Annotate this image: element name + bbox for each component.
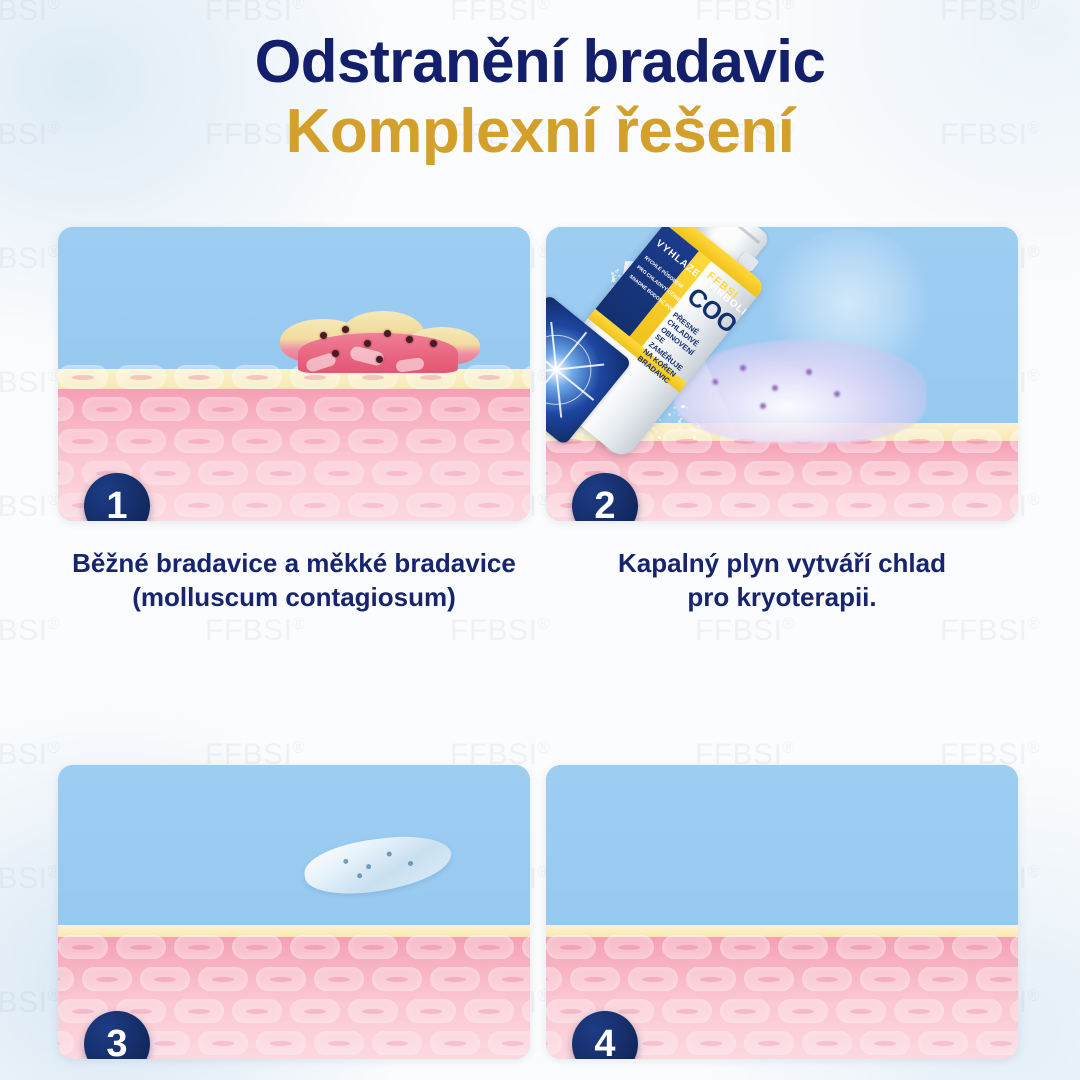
skin-cell <box>1010 429 1018 453</box>
skin-cell <box>1010 493 1018 517</box>
skin-cell <box>174 935 224 959</box>
skin-cell <box>918 967 968 991</box>
skin-cell <box>348 429 398 453</box>
skin-cell <box>952 493 1002 517</box>
skin-cell <box>406 999 456 1023</box>
skin-cell <box>686 1031 736 1055</box>
step-caption-1: Běžné bradavice a měkké bradavice (mollu… <box>58 547 530 615</box>
sky-background <box>58 765 530 931</box>
step-card-3: 3 Bradavice odpadne během 10–14 dnů a ob… <box>58 765 530 1080</box>
skin-cell <box>522 365 530 389</box>
step-1-illustration: 1 <box>58 227 530 521</box>
steps-row-2: 3 Bradavice odpadne během 10–14 dnů a ob… <box>0 765 1080 1080</box>
page-title-primary: Odstranění bradavic <box>0 30 1080 95</box>
skin-cell <box>918 461 968 485</box>
skin-cell <box>290 429 340 453</box>
skin-cell <box>744 461 794 485</box>
skin-cell <box>522 935 530 959</box>
steps-row-1: 1 Běžné bradavice a měkké bradavice (mol… <box>0 227 1080 643</box>
skin-cell <box>140 397 190 421</box>
skin-cell <box>802 967 852 991</box>
skin-cell <box>116 429 166 453</box>
skin-cell <box>116 365 166 389</box>
skin-cell <box>406 429 456 453</box>
skin-cell <box>430 967 480 991</box>
skin-cell <box>174 493 224 517</box>
skin-cell <box>464 493 514 517</box>
skin-cell <box>952 999 1002 1023</box>
skin-cell <box>720 999 770 1023</box>
skin-cell <box>744 967 794 991</box>
skin-cell <box>58 1031 74 1055</box>
skin-cell <box>430 461 480 485</box>
skin-cell <box>58 461 74 485</box>
skin-cell <box>546 461 562 485</box>
skin-cell <box>406 493 456 517</box>
skin-cell <box>860 967 910 991</box>
step-card-2: FFBSI COOLERASE VYHLAZENÍ HRBOLKŮ RYCHLÉ… <box>546 227 1018 615</box>
skin-cell <box>348 999 398 1023</box>
step-caption-2-line2: pro kryoterapii. <box>546 581 1018 615</box>
skin-cell <box>836 493 886 517</box>
skin-cell <box>488 397 530 421</box>
skin-cell <box>522 429 530 453</box>
skin-cell <box>256 461 306 485</box>
skin-cell-row <box>58 393 530 425</box>
step-card-1: 1 Běžné bradavice a měkké bradavice (mol… <box>58 227 530 615</box>
skin-cell <box>198 397 248 421</box>
skin-cell <box>174 365 224 389</box>
skin-cell <box>58 967 74 991</box>
page-title-secondary: Komplexní řešení <box>0 97 1080 166</box>
skin-cell <box>976 967 1018 991</box>
skin-cell <box>290 999 340 1023</box>
skin-cell <box>464 429 514 453</box>
skin-cell <box>256 397 306 421</box>
skin-cell <box>894 429 944 453</box>
watermark-text: FFBSI® <box>0 0 60 28</box>
skin-cell <box>802 461 852 485</box>
skin-cell <box>488 967 530 991</box>
skin-cell <box>314 1031 364 1055</box>
skin-cell <box>232 935 282 959</box>
watermark-text: FFBSI® <box>940 0 1040 28</box>
skin-cell <box>662 493 712 517</box>
skin-cell <box>604 935 654 959</box>
step-caption-2-line1: Kapalný plyn vytváří chlad <box>546 547 1018 581</box>
skin-cell <box>546 967 562 991</box>
skin-cell <box>290 935 340 959</box>
skin-cell <box>348 493 398 517</box>
skin-cell <box>372 1031 422 1055</box>
skin-cell <box>522 999 530 1023</box>
skin-cell <box>174 429 224 453</box>
step-caption-1-line1: Běžné bradavice a měkké bradavice <box>58 547 530 581</box>
step-caption-1-line2: (molluscum contagiosum) <box>58 581 530 615</box>
watermark-text: FFBSI® <box>695 0 795 28</box>
skin-cell <box>372 397 422 421</box>
skin-cell <box>464 935 514 959</box>
skin-cell <box>116 935 166 959</box>
skin-cell <box>58 429 108 453</box>
skin-cell <box>430 1031 480 1055</box>
skin-cell <box>372 461 422 485</box>
skin-cell <box>570 967 620 991</box>
skin-cell <box>430 397 480 421</box>
watermark-text: FFBSI® <box>205 0 305 28</box>
skin-cell <box>232 365 282 389</box>
skin-cell <box>720 493 770 517</box>
skin-cell <box>314 967 364 991</box>
skin-cell <box>1010 935 1018 959</box>
step-card-4: 4 Po následné aplikaci posílíte účinek. <box>546 765 1018 1080</box>
watermark-text: FFBSI® <box>450 0 550 28</box>
skin-cell <box>778 935 828 959</box>
skin-cell <box>58 935 108 959</box>
skin-cell <box>372 967 422 991</box>
skin-cell <box>256 967 306 991</box>
skin-cell <box>836 999 886 1023</box>
step-2-illustration: FFBSI COOLERASE VYHLAZENÍ HRBOLKŮ RYCHLÉ… <box>546 227 1018 521</box>
skin-cell-row <box>58 425 530 457</box>
step-3-illustration: 3 <box>58 765 530 1059</box>
skin-cell <box>952 429 1002 453</box>
skin-cell <box>82 397 132 421</box>
step-caption-2: Kapalný plyn vytváří chlad pro kryoterap… <box>546 547 1018 615</box>
skin-cell <box>836 935 886 959</box>
skin-cell <box>488 1031 530 1055</box>
skin-cell <box>198 967 248 991</box>
skin-cell <box>976 1031 1018 1055</box>
skin-cell <box>744 1031 794 1055</box>
skin-cell <box>58 365 108 389</box>
skin-cell <box>918 1031 968 1055</box>
skin-cell <box>662 999 712 1023</box>
skin-cell <box>232 999 282 1023</box>
skin-cell <box>976 461 1018 485</box>
skin-cell <box>314 397 364 421</box>
steps-grid: 1 Běžné bradavice a měkké bradavice (mol… <box>0 227 1080 1080</box>
skin-cell <box>406 935 456 959</box>
skin-cell <box>140 461 190 485</box>
skin-cell <box>232 429 282 453</box>
skin-cell <box>894 935 944 959</box>
skin-cell-row <box>58 931 530 963</box>
skin-cell <box>628 967 678 991</box>
skin-cell <box>522 493 530 517</box>
infographic-root: FFBSI®FFBSI®FFBSI®FFBSI®FFBSI®FFBSI®FFBS… <box>0 0 1080 1080</box>
skin-cell <box>894 493 944 517</box>
skin-cell <box>82 967 132 991</box>
skin-cell <box>778 999 828 1023</box>
step-4-illustration: 4 <box>546 765 1018 1059</box>
skin-cell <box>546 1031 562 1055</box>
skin-cell <box>140 967 190 991</box>
skin-cell <box>464 999 514 1023</box>
skin-cell <box>314 461 364 485</box>
skin-cell-row <box>546 931 1018 963</box>
skin-cell <box>952 935 1002 959</box>
skin-cell <box>198 1031 248 1055</box>
skin-cell <box>894 999 944 1023</box>
skin-cell <box>802 1031 852 1055</box>
skin-cell <box>546 935 596 959</box>
skin-cell <box>232 493 282 517</box>
skin-cell <box>778 493 828 517</box>
skin-cell <box>348 935 398 959</box>
title-block: Odstranění bradavic Komplexní řešení <box>0 30 1080 166</box>
skin-cell <box>256 1031 306 1055</box>
skin-cell <box>1010 999 1018 1023</box>
skin-cell-row <box>546 963 1018 995</box>
skin-cell <box>174 999 224 1023</box>
skin-cell <box>58 397 74 421</box>
skin-cell <box>488 461 530 485</box>
skin-cell-row <box>58 963 530 995</box>
sky-background <box>546 765 1018 931</box>
wart-lesion <box>280 311 480 373</box>
skin-cell <box>198 461 248 485</box>
skin-cell <box>662 935 712 959</box>
skin-cell <box>290 493 340 517</box>
skin-cell <box>720 935 770 959</box>
skin-cell <box>860 461 910 485</box>
skin-cell <box>860 1031 910 1055</box>
skin-cell <box>686 967 736 991</box>
